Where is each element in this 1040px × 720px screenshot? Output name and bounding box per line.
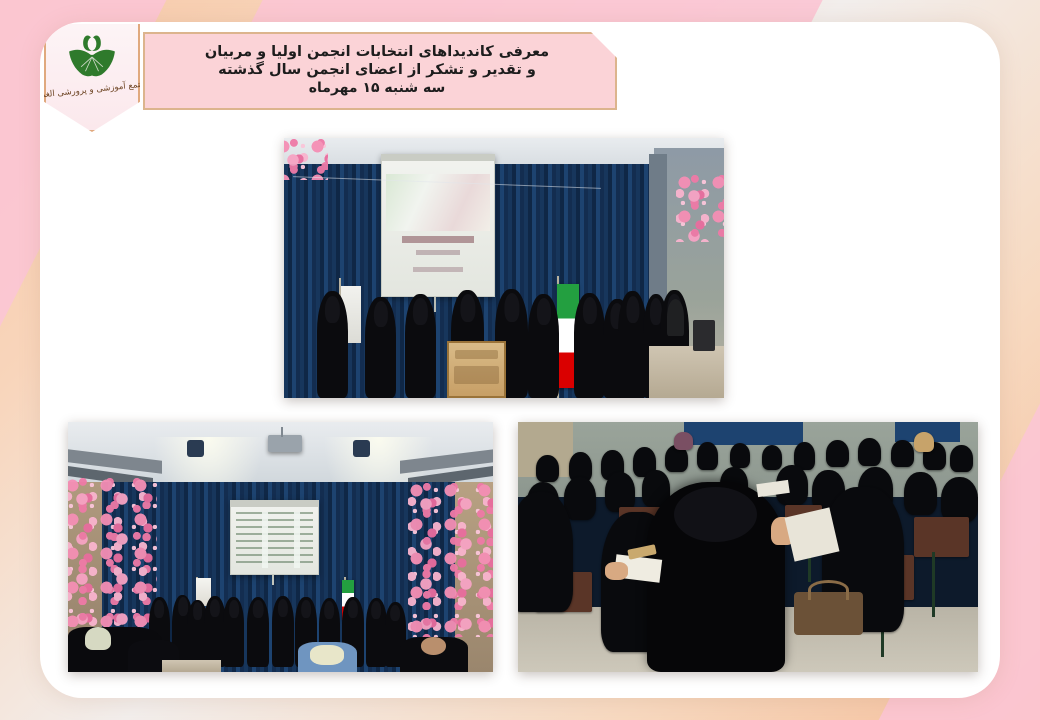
photo-auditorium-stage-lineup	[284, 138, 724, 398]
photo-seated-audience-crowd	[518, 422, 978, 672]
photo-auditorium-wide-shot	[68, 422, 493, 672]
school-logo-shield: مجتمع آموزشی و پرورشی الغدیر	[44, 24, 140, 132]
event-title-banner: معرفی کاندیداهای انتخابات انجمن اولیا و …	[143, 32, 617, 110]
poster-canvas: مجتمع آموزشی و پرورشی الغدیر معرفی کاندی…	[0, 0, 1040, 720]
open-book-tulip-emblem	[64, 33, 120, 81]
event-title-line-2: و تقدیر و تشکر از اعضای انجمن سال گذشته	[218, 61, 536, 80]
school-logo-caption: مجتمع آموزشی و پرورشی الغدیر	[40, 79, 151, 101]
scene-bottom-right	[518, 422, 978, 672]
scene-top	[284, 138, 724, 398]
white-content-card: مجتمع آموزشی و پرورشی الغدیر معرفی کاندی…	[40, 22, 1000, 698]
scene-bottom-left	[68, 422, 493, 672]
event-date-line: سه شنبه ۱۵ مهرماه	[309, 80, 445, 98]
event-title-line-1: معرفی کاندیداهای انتخابات انجمن اولیا و …	[205, 43, 549, 62]
poster-header: مجتمع آموزشی و پرورشی الغدیر معرفی کاندی…	[40, 22, 1000, 134]
